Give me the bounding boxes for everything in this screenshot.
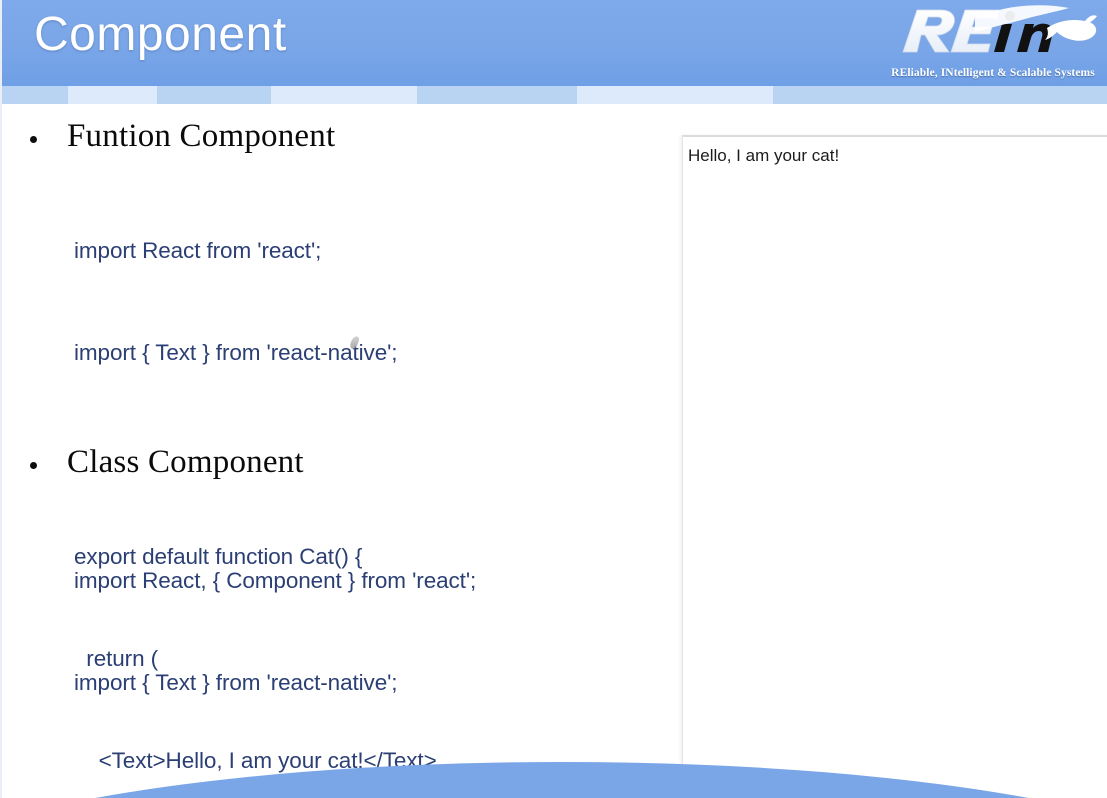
ribbon-block bbox=[2, 86, 68, 104]
bullet-point-icon bbox=[30, 136, 37, 143]
section-heading: Funtion Component bbox=[67, 118, 335, 155]
rein-logo-icon bbox=[879, 2, 1101, 60]
ribbon-block bbox=[68, 86, 157, 104]
preview-panel: Hello, I am your cat! Preview iOS Androi… bbox=[682, 135, 1107, 798]
code-line: import { Text } from 'react-native'; bbox=[74, 666, 526, 700]
ribbon-block bbox=[577, 86, 773, 104]
slide-content: Funtion Component import React from 'rea… bbox=[2, 104, 1107, 798]
ribbon-block bbox=[157, 86, 271, 104]
code-line: import React, { Component } from 'react'… bbox=[74, 564, 526, 598]
ribbon-block bbox=[773, 86, 1107, 104]
page-title: Component bbox=[34, 7, 287, 62]
ribbon-block bbox=[271, 86, 417, 104]
code-line: import { Text } from 'react-native'; bbox=[74, 336, 437, 370]
bullet-point-icon bbox=[30, 462, 37, 469]
ribbon-block bbox=[417, 86, 577, 104]
code-line: import React from 'react'; bbox=[74, 234, 437, 268]
preview-output-text: Hello, I am your cat! bbox=[688, 146, 839, 166]
slide-header: Component bbox=[2, 0, 1107, 86]
presentation-slide: Component bbox=[0, 0, 1107, 798]
code-block-class-component: import React, { Component } from 'react'… bbox=[74, 496, 526, 798]
section-heading: Class Component bbox=[67, 444, 304, 481]
decorative-ribbon-strip bbox=[2, 86, 1107, 104]
rein-logo: REliable, INtelligent & Scalable Systems bbox=[879, 0, 1107, 86]
rein-logo-tagline: REliable, INtelligent & Scalable Systems bbox=[881, 67, 1105, 79]
